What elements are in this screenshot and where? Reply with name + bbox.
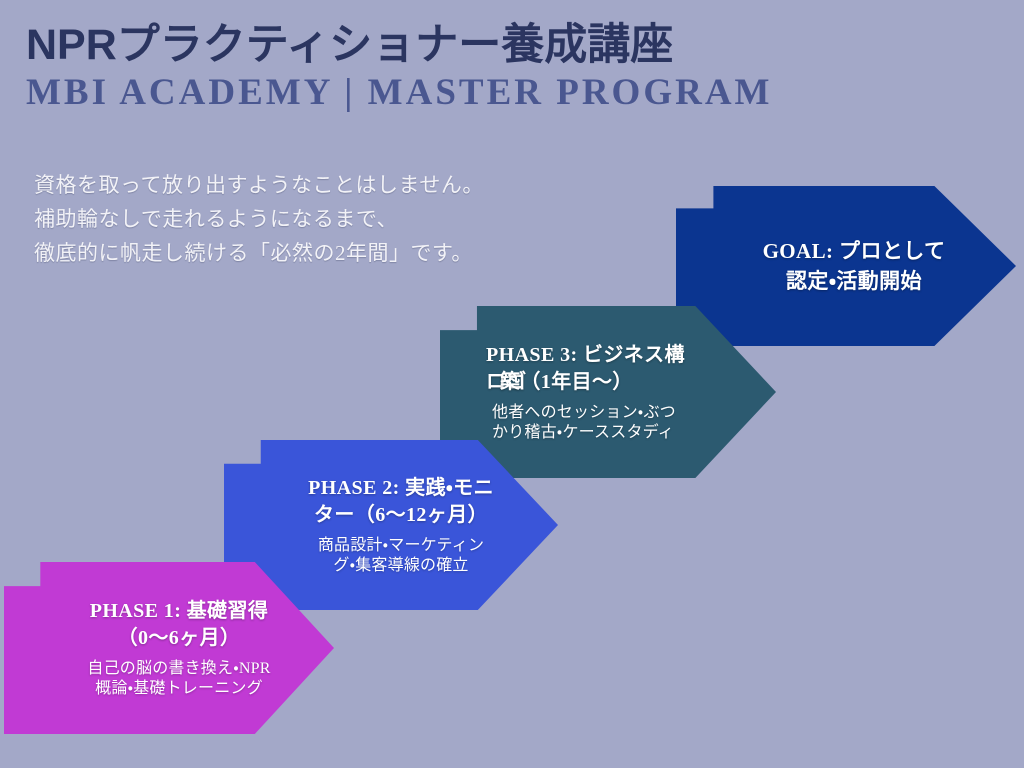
phase1-detail-line-1: 自己の脳の書き換え・NPR [87, 659, 270, 679]
lead-line-1: 資格を取って放り出すようなことはしません。 [34, 168, 484, 202]
phase3-overlap-group: ロゴ築（1年目〜） [486, 369, 746, 396]
page-subtitle: MBI ACADEMY | MASTER PROGRAM [26, 72, 926, 113]
roadmap-step-phase1-detail: 自己の脳の書き換え・NPR 概論・基礎トレーニング [87, 659, 270, 698]
roadmap-step-phase2-title: PHASE 2: 実践・モニ ター（6〜12ヶ月） [308, 475, 494, 529]
page-title: NPRプラクティショナー養成講座 [26, 22, 926, 68]
phase2-detail-line-1: 商品設計・マーケティン [318, 536, 484, 556]
phase3-title-line-2-b: 築（1年目〜） [500, 369, 633, 396]
roadmap-step-phase3-title: PHASE 3: ビジネス構 ロゴ築（1年目〜） [486, 342, 746, 396]
lead-paragraph: 資格を取って放り出すようなことはしません。 補助輪なしで走れるようになるまで、 … [34, 168, 484, 270]
goal-title-line-1: GOAL: プロとして [763, 236, 946, 266]
phase1-title-line-2: （0〜6ヶ月） [90, 625, 269, 652]
phase3-detail-line-2: かり稽古・ケーススタディ [492, 423, 752, 443]
phase1-detail-line-2: 概論・基礎トレーニング [87, 679, 270, 699]
slide-canvas: NPRプラクティショナー養成講座 MBI ACADEMY | MASTER PR… [0, 0, 1024, 768]
title-block: NPRプラクティショナー養成講座 MBI ACADEMY | MASTER PR… [26, 22, 926, 114]
phase2-detail-line-2: グ・集客導線の確立 [318, 556, 484, 576]
phase2-title-line-1: PHASE 2: 実践・モニ [308, 475, 494, 502]
lead-line-2: 補助輪なしで走れるようになるまで、 [34, 202, 484, 236]
roadmap-step-phase3-detail: 他者へのセッション・ぶつ かり稽古・ケーススタディ [480, 403, 752, 442]
lead-line-3: 徹底的に帆走し続ける「必然の2年間」です。 [34, 236, 484, 270]
phase2-title-line-2: ター（6〜12ヶ月） [308, 502, 494, 529]
phase3-detail-line-1: 他者へのセッション・ぶつ [492, 403, 752, 423]
roadmap-step-goal-title: GOAL: プロとして 認定・活動開始 [763, 236, 946, 297]
roadmap-step-goal[interactable]: GOAL: プロとして 認定・活動開始 [676, 186, 1016, 346]
phase1-title-line-1: PHASE 1: 基礎習得 [90, 598, 269, 625]
roadmap-step-phase1-title: PHASE 1: 基礎習得 （0〜6ヶ月） [90, 598, 269, 652]
roadmap-step-phase2-detail: 商品設計・マーケティン グ・集客導線の確立 [318, 536, 484, 575]
goal-title-line-2: 認定・活動開始 [763, 266, 946, 296]
phase3-title-line-1: PHASE 3: ビジネス構 [486, 342, 746, 369]
phase3-title-line-2: ロゴ築（1年目〜） [486, 369, 746, 396]
